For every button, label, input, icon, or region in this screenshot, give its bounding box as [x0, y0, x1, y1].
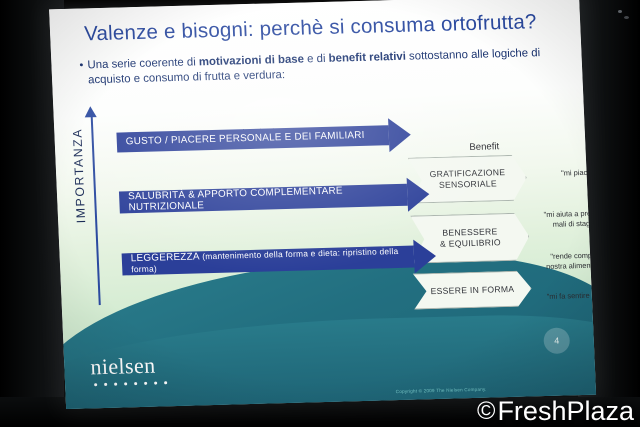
benefit-label-3: ESSERE IN FORMA [430, 283, 514, 296]
consumer-quote-3: "rende completa la nostra alimentazione" [544, 250, 596, 272]
nielsen-logo: nielsen [90, 353, 207, 386]
motivation-arrow-tip-3 [413, 239, 436, 274]
ceiling-speck [624, 16, 629, 19]
benefit-label-1: GRATIFICAZIONE SENSORIALE [429, 167, 506, 190]
benefit-label-2: BENESSERE & EQUILIBRIO [439, 226, 501, 249]
copyright-symbol-icon: © [477, 399, 495, 424]
bullet-part-2: e di [304, 53, 329, 66]
motivation-arrow-tip-2 [407, 177, 430, 212]
projection-screen: Valenze e bisogni: perchè si consuma ort… [49, 0, 597, 427]
motivation-label-1: GUSTO / PIACERE PERSONALE E DEI FAMILIAR… [126, 130, 365, 147]
motivation-arrow-tip-1 [388, 118, 411, 153]
slide: Valenze e bisogni: perchè si consuma ort… [49, 0, 596, 409]
bullet-bold-1: motivazioni di base [199, 53, 305, 68]
benefit-chevron-3: ESSERE IN FORMA [413, 270, 533, 309]
consumer-quote-4: "mi fa sentire leggero" [546, 290, 596, 302]
bullet-part-1: Una serie coerente di [87, 56, 199, 71]
ceiling-speck [618, 10, 622, 13]
bullet-marker: • [79, 58, 83, 73]
watermark-text: FreshPlaza [497, 398, 634, 425]
bullet-bold-2: benefit relativi [328, 51, 406, 65]
consumer-quote-2: "mi aiuta a prevenire i mali di stagione… [542, 208, 596, 230]
projection-room: Valenze e bisogni: perchè si consuma ort… [0, 0, 640, 427]
column-header-benefits: Benefit [469, 141, 499, 153]
importance-axis-arrow-icon [84, 106, 96, 117]
nielsen-logo-text: nielsen [90, 353, 207, 378]
motivation-label-3: LEGGEREZZA [131, 251, 200, 264]
freshplaza-watermark: © FreshPlaza [477, 398, 634, 425]
